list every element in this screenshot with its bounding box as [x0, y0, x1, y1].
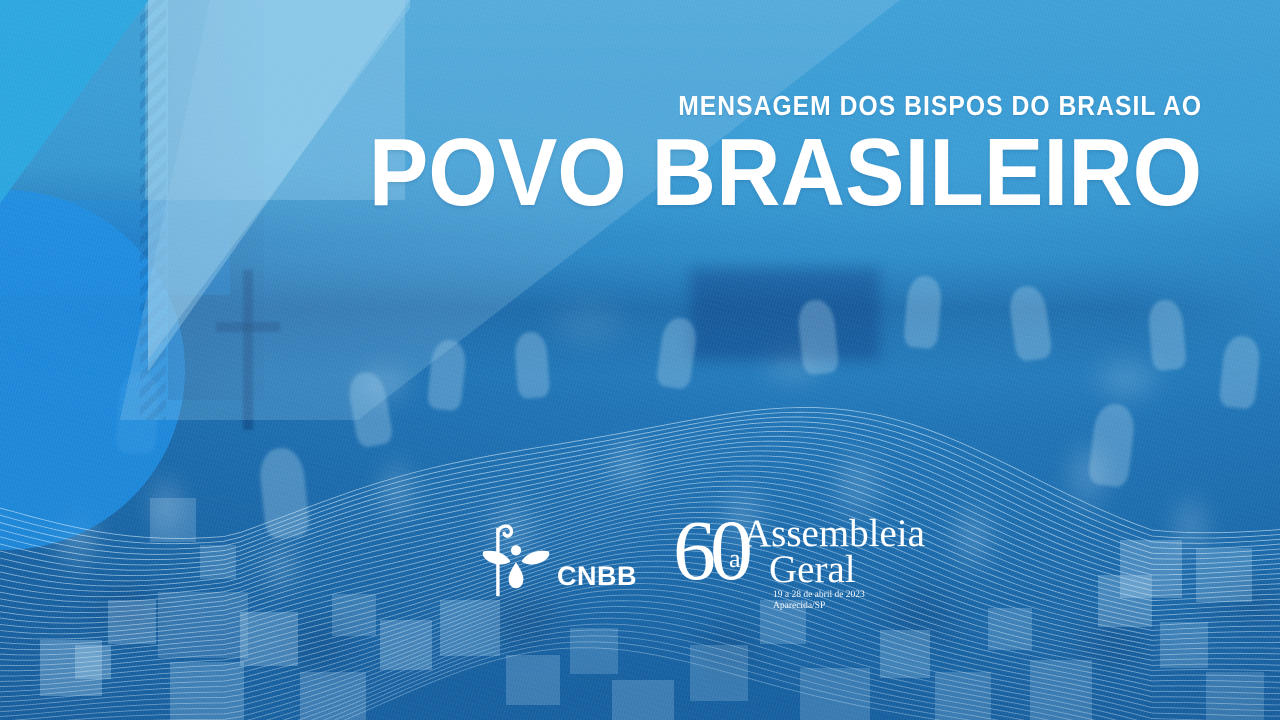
decor-square — [200, 545, 236, 579]
kicker-text: MENSAGEM DOS BISPOS DO BRASIL AO — [413, 92, 1202, 120]
decor-square — [1120, 540, 1182, 598]
cnbb-wordmark: CNBB — [557, 563, 637, 598]
assembleia-location: Aparecida/SP — [773, 601, 925, 613]
decor-square — [240, 612, 298, 666]
assembleia-geral-logo: 60 a Assembleia Geral 19 a 28 de abril d… — [673, 518, 925, 613]
decor-square — [108, 600, 156, 644]
decor-square — [158, 592, 248, 658]
decor-square — [988, 608, 1032, 650]
decor-square — [690, 645, 748, 701]
logo-lockup: CNBB 60 a Assembleia Geral 19 a 28 de ab… — [480, 518, 925, 613]
decor-square — [1030, 660, 1092, 720]
decor-square — [935, 672, 991, 720]
assembleia-line-1: Assembleia — [743, 516, 925, 552]
assembleia-wordmark: Assembleia Geral 19 a 28 de abril de 202… — [743, 516, 925, 613]
decor-square — [800, 668, 870, 720]
cnbb-crosier-dove-icon — [480, 518, 552, 598]
assembleia-line-2: Geral — [769, 552, 925, 588]
assembleia-date-range: 19 a 28 de abril de 2023 — [773, 590, 925, 602]
cnbb-logo: CNBB — [480, 518, 637, 598]
decor-square — [300, 672, 366, 720]
decor-square — [170, 662, 244, 720]
page-title: POVO BRASILEIRO — [369, 126, 1202, 220]
decor-square — [506, 655, 560, 705]
decor-square — [880, 630, 930, 678]
decor-square — [150, 498, 196, 542]
decor-square — [380, 620, 432, 670]
poster-canvas: MENSAGEM DOS BISPOS DO BRASIL AO POVO BR… — [0, 0, 1280, 720]
headline-block: MENSAGEM DOS BISPOS DO BRASIL AO POVO BR… — [306, 92, 1202, 220]
assembleia-dates: 19 a 28 de abril de 2023 Aparecida/SP — [773, 590, 925, 613]
assembly-number-ordinal: a — [729, 546, 741, 572]
decor-square — [570, 628, 618, 674]
decor-square — [1160, 622, 1208, 668]
decor-square — [1206, 672, 1264, 720]
decor-square — [1196, 548, 1252, 602]
decor-square — [612, 680, 674, 720]
assembly-number: 60 a — [673, 518, 765, 604]
decor-square — [332, 594, 376, 636]
decor-square — [75, 645, 111, 679]
